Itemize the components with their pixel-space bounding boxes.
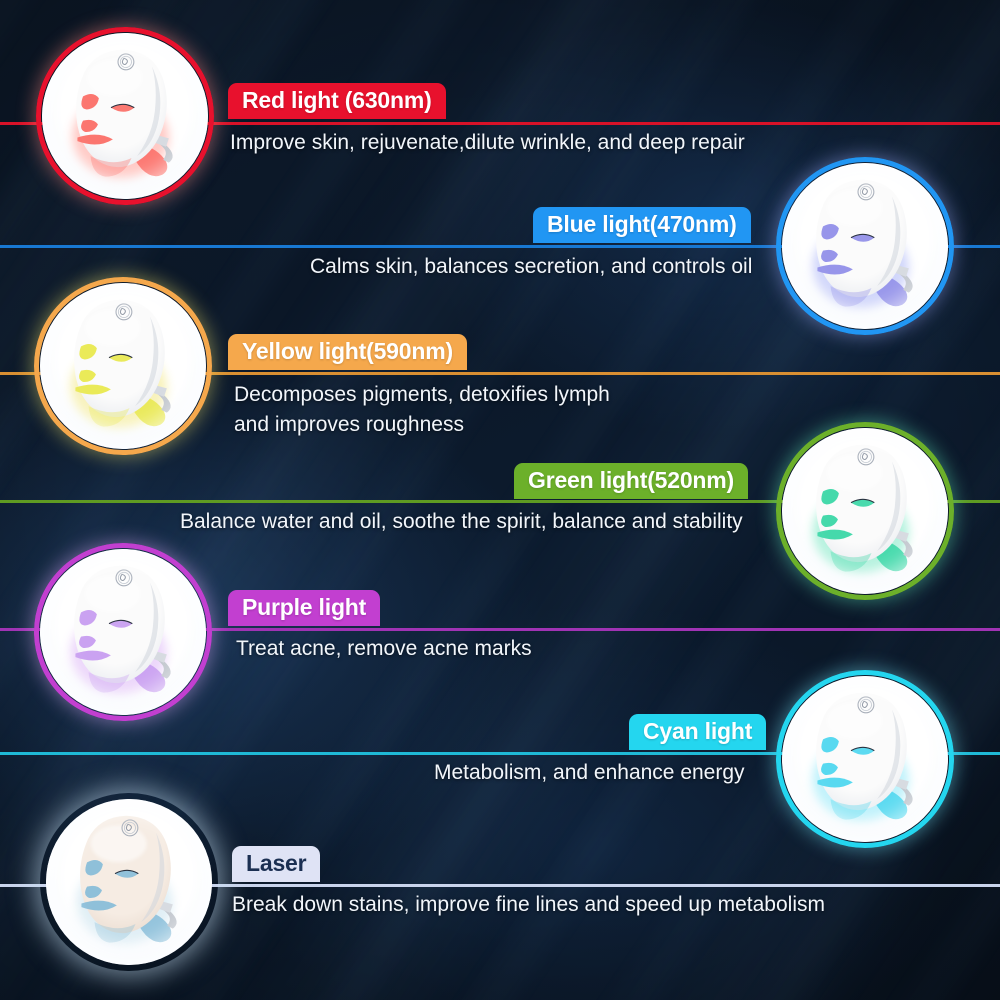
description-red: Improve skin, rejuvenate,dilute wrinkle,…	[230, 128, 970, 158]
mask-image-yellow	[34, 277, 212, 455]
description-laser: Break down stains, improve fine lines an…	[232, 890, 972, 920]
badge-yellow[interactable]: Yellow light(590nm)	[228, 334, 467, 370]
badge-laser[interactable]: Laser	[232, 846, 320, 882]
product-infographic: Red light (630nm) Improve skin, rejuvena…	[0, 0, 1000, 1000]
badge-cyan[interactable]: Cyan light	[629, 714, 766, 750]
badge-label-cyan: Cyan light	[643, 718, 752, 745]
badge-label-blue: Blue light(470nm)	[547, 211, 737, 238]
badge-label-purple: Purple light	[242, 594, 366, 621]
description-green: Balance water and oil, soothe the spirit…	[180, 507, 970, 537]
badge-label-laser: Laser	[246, 850, 306, 877]
description-cyan: Metabolism, and enhance energy	[434, 758, 994, 788]
mask-image-purple	[34, 543, 212, 721]
description-yellow: Decomposes pigments, detoxifies lymph an…	[234, 380, 954, 440]
description-blue: Calms skin, balances secretion, and cont…	[310, 252, 1000, 282]
description-purple: Treat acne, remove acne marks	[236, 634, 936, 664]
badge-red[interactable]: Red light (630nm)	[228, 83, 446, 119]
badge-green[interactable]: Green light(520nm)	[514, 463, 748, 499]
badge-label-red: Red light (630nm)	[242, 87, 432, 114]
badge-blue[interactable]: Blue light(470nm)	[533, 207, 751, 243]
mask-image-blue	[776, 157, 954, 335]
mask-image-laser	[40, 793, 218, 971]
badge-purple[interactable]: Purple light	[228, 590, 380, 626]
badge-label-yellow: Yellow light(590nm)	[242, 338, 453, 365]
badge-label-green: Green light(520nm)	[528, 467, 734, 494]
mask-image-red	[36, 27, 214, 205]
